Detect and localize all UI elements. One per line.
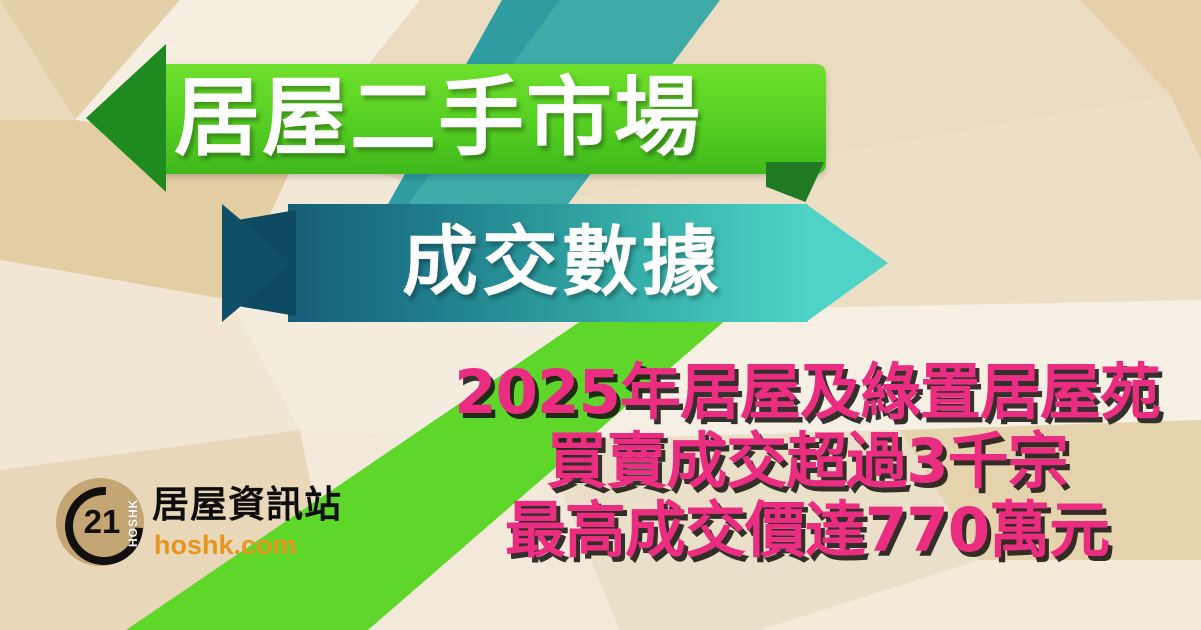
logo-badge-arc-text: HOSHK xyxy=(121,492,145,554)
headline-line-2: 買賣成交超過3千宗 xyxy=(452,427,1162,496)
logo-badge-icon: 21 HOSHK xyxy=(56,478,144,566)
headline-line-3: 最高成交價達770萬元 xyxy=(452,496,1162,565)
headline-block: 2025年居屋及綠置居屋苑 買賣成交超過3千宗 最高成交價達770萬元 xyxy=(452,358,1162,565)
secondary-banner-title: 成交數據 xyxy=(402,210,922,314)
secondary-banner-notch xyxy=(222,204,292,322)
headline-line-1: 2025年居屋及綠置居屋苑 xyxy=(452,358,1162,427)
site-logo[interactable]: 21 HOSHK 居屋資訊站 hoshk.com xyxy=(56,478,386,578)
primary-banner: 居屋二手市場 xyxy=(86,44,826,192)
secondary-banner: 成交數據 xyxy=(222,204,888,322)
primary-banner-arrow-tip xyxy=(86,44,166,192)
logo-name-cn: 居屋資訊站 xyxy=(152,484,342,526)
primary-banner-title: 居屋二手市場 xyxy=(174,66,874,170)
poster-canvas: 居屋二手市場 成交數據 2025年居屋及綠置居屋苑 買賣成交超過3千宗 最高成交… xyxy=(0,0,1201,630)
logo-url[interactable]: hoshk.com xyxy=(154,530,297,560)
